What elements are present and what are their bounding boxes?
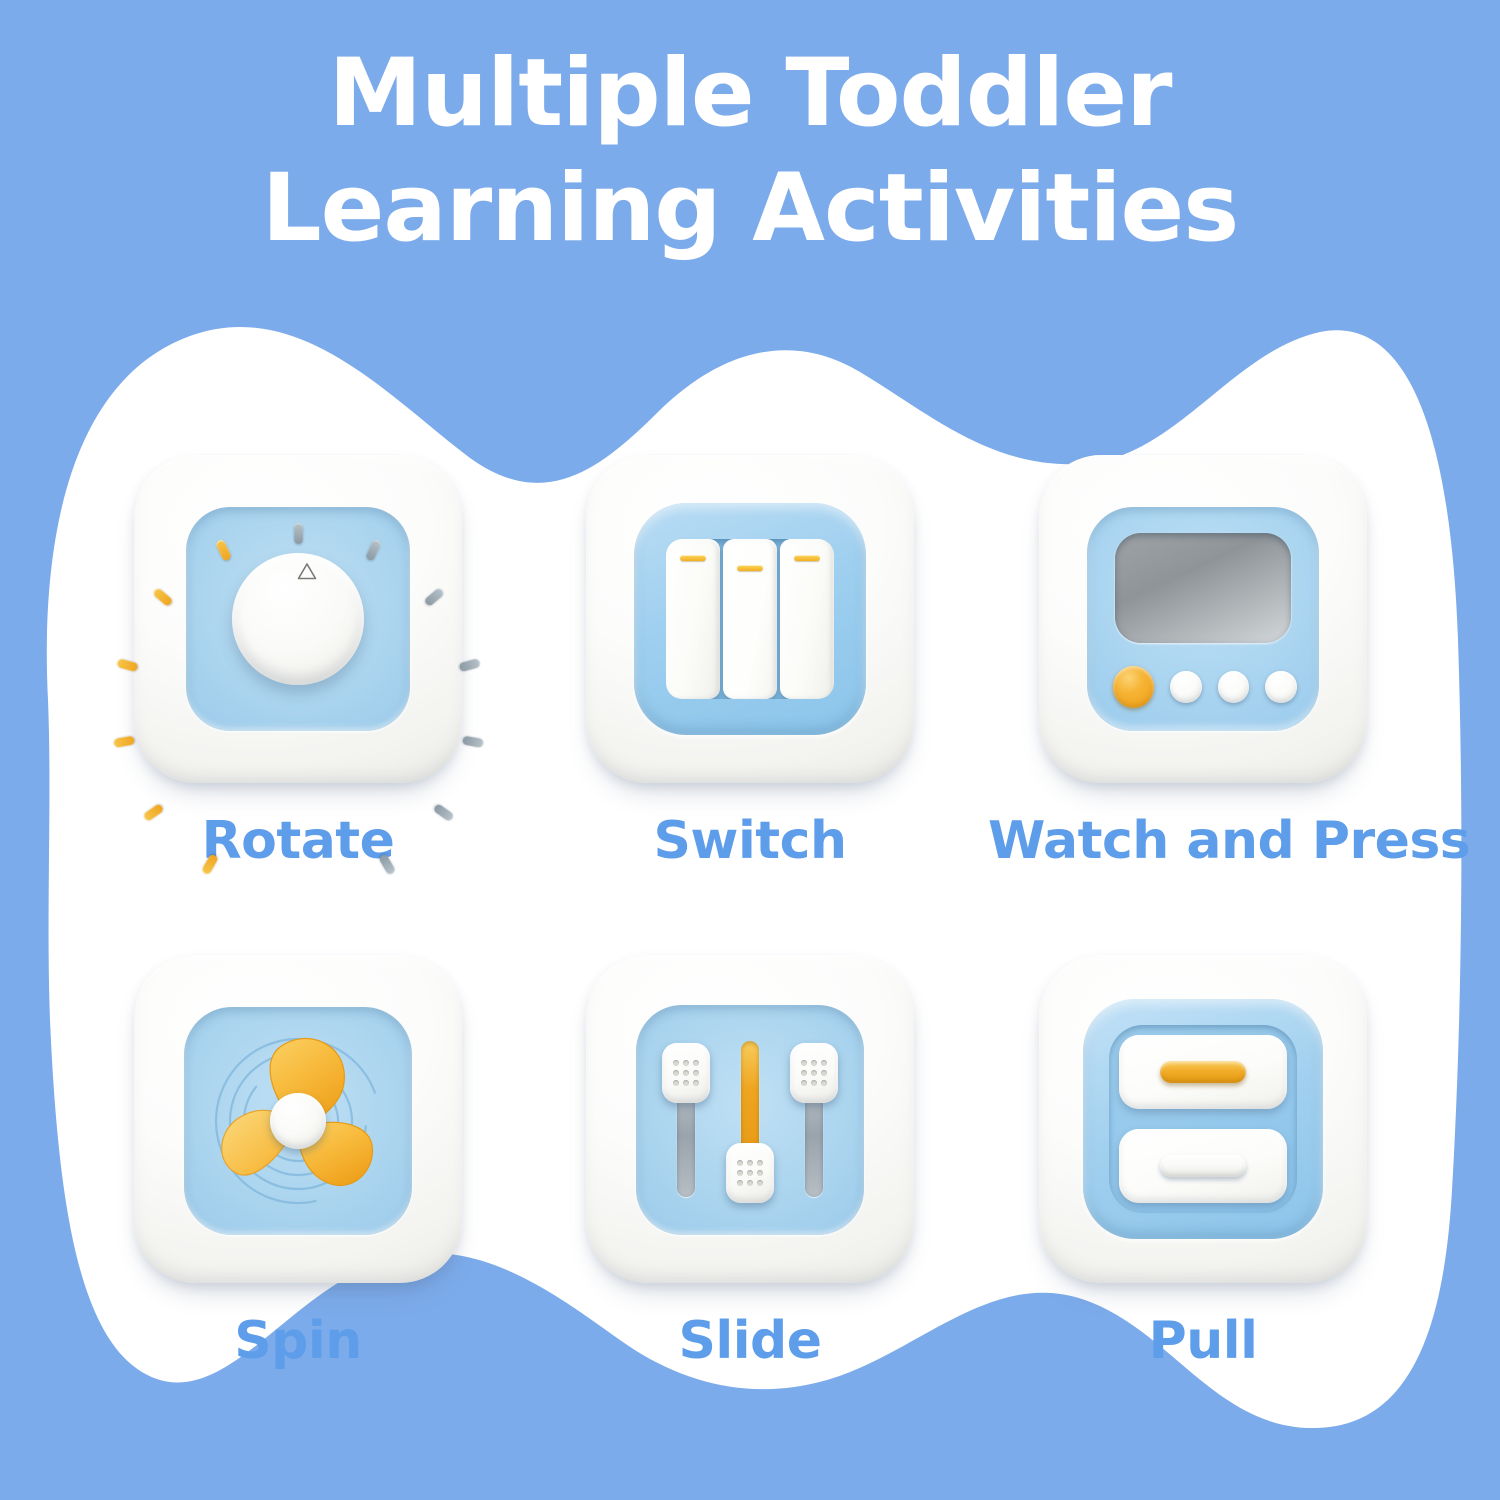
slider-3[interactable] xyxy=(802,1043,826,1197)
rotary-tick-8 xyxy=(364,538,381,561)
drawer-bottom[interactable] xyxy=(1119,1129,1287,1203)
activity-cell-pull[interactable]: Pull xyxy=(988,955,1418,1371)
rotary-tick-3 xyxy=(112,735,134,748)
rocker-switch-icon[interactable] xyxy=(666,539,834,699)
tv-button-3[interactable] xyxy=(1218,671,1250,703)
tv-button-1-active[interactable] xyxy=(1113,666,1154,708)
slider-2[interactable] xyxy=(738,1041,762,1203)
slider-knob-2[interactable] xyxy=(726,1143,774,1203)
activity-card-pull[interactable] xyxy=(1039,955,1367,1283)
activity-label-watch-and-press: Watch and Press xyxy=(988,811,1418,871)
rotary-tick-11 xyxy=(462,735,484,748)
activity-card-rotate[interactable] xyxy=(134,455,462,783)
drawer-top[interactable] xyxy=(1119,1035,1287,1109)
rotary-knob-icon[interactable] xyxy=(232,553,364,685)
switch-led-icon-3 xyxy=(794,555,820,561)
activity-cell-slide[interactable]: Slide xyxy=(535,955,965,1371)
rotary-tick-10 xyxy=(458,657,481,671)
activity-card-watch-and-press[interactable] xyxy=(1039,455,1367,783)
fan-hub-icon xyxy=(270,1093,326,1149)
drawer-handle-white-icon[interactable] xyxy=(1160,1155,1246,1177)
activity-cell-rotate[interactable]: Rotate xyxy=(83,455,513,871)
activity-label-slide: Slide xyxy=(535,1311,965,1371)
activity-cell-switch[interactable]: Switch xyxy=(535,455,965,871)
activity-label-switch: Switch xyxy=(535,811,965,871)
page-title: Multiple Toddler Learning Activities xyxy=(0,36,1500,266)
activity-label-pull: Pull xyxy=(988,1311,1418,1371)
knob-grip-dots-1 xyxy=(673,1060,699,1086)
rocker-switch-3[interactable] xyxy=(780,539,834,699)
activity-cell-spin[interactable]: Spin xyxy=(83,955,513,1371)
slider-knob-1[interactable] xyxy=(662,1043,710,1103)
rotary-tick-4 xyxy=(115,657,138,671)
rocker-switch-1[interactable] xyxy=(666,539,720,699)
knob-grip-dots-3 xyxy=(801,1060,827,1086)
slider-knob-3[interactable] xyxy=(790,1043,838,1103)
activity-card-slide[interactable] xyxy=(586,955,914,1283)
rotary-tick-9 xyxy=(423,586,445,606)
tv-display xyxy=(1115,533,1291,643)
tv-button-2[interactable] xyxy=(1170,671,1202,703)
spin-panel xyxy=(184,1007,412,1235)
activity-card-switch[interactable] xyxy=(586,455,914,783)
slider-controls-icon xyxy=(636,1005,864,1235)
tv-button-4[interactable] xyxy=(1265,671,1297,703)
rotary-tick-6 xyxy=(214,538,231,561)
switch-blue-ring xyxy=(634,503,866,735)
drawer-handle-amber-icon[interactable] xyxy=(1160,1061,1246,1083)
pull-inner-frame xyxy=(1109,1025,1297,1213)
drawer-pull-icon xyxy=(1083,999,1323,1239)
triangle-marker-icon xyxy=(289,564,307,579)
slider-1[interactable] xyxy=(674,1043,698,1197)
switch-led-icon-2 xyxy=(737,565,763,571)
tv-screen-icon xyxy=(1087,507,1319,731)
rocker-switch-2[interactable] xyxy=(723,539,777,699)
activity-card-spin[interactable] xyxy=(134,955,462,1283)
activity-cell-watch-and-press[interactable]: Watch and Press xyxy=(988,455,1418,871)
title-line-1: Multiple Toddler xyxy=(0,36,1500,151)
rotary-tick-7 xyxy=(294,523,303,544)
rotary-tick-5 xyxy=(151,586,173,606)
switch-led-icon-1 xyxy=(680,555,706,561)
activity-label-spin: Spin xyxy=(83,1311,513,1371)
title-line-2: Learning Activities xyxy=(0,151,1500,266)
rotate-panel xyxy=(186,507,410,731)
tv-button-row xyxy=(1113,665,1297,709)
knob-grip-dots-2 xyxy=(737,1160,763,1186)
